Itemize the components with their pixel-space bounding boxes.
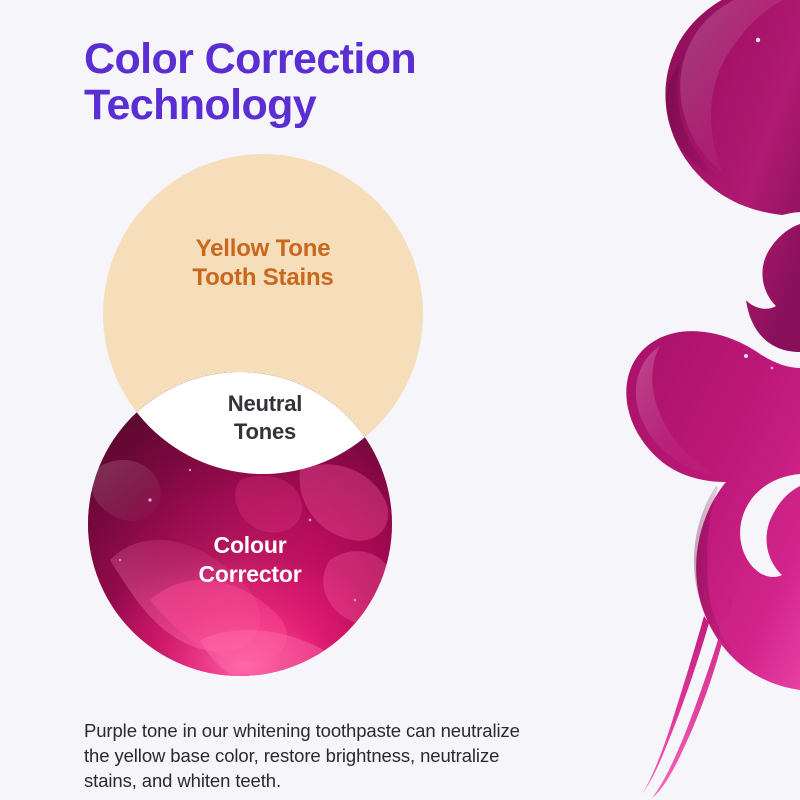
swirl-specular-dot <box>756 38 760 42</box>
swirl-lower-edge-shadow <box>694 486 740 660</box>
swirl-upper-notch <box>735 212 800 309</box>
swirl-upper-stroke <box>665 0 800 352</box>
swirl-lower-gloss <box>636 346 724 478</box>
venn-diagram <box>0 0 520 720</box>
purple-toothpaste-swirl-image <box>500 0 800 800</box>
swirl-specular-dot <box>771 367 774 370</box>
swirl-tail-thick <box>652 596 732 798</box>
promo-graphic: Color Correction Technology <box>0 0 800 800</box>
swirl-specular-dot <box>744 354 748 358</box>
swirl-upper-gloss <box>680 0 800 172</box>
swirl-lower-stroke <box>626 331 800 690</box>
swirl-upper-edge-shadow <box>666 60 726 182</box>
description-text: Purple tone in our whitening toothpaste … <box>84 718 544 793</box>
swirl-lower-notch <box>740 474 800 577</box>
swirl-tail <box>642 616 709 794</box>
